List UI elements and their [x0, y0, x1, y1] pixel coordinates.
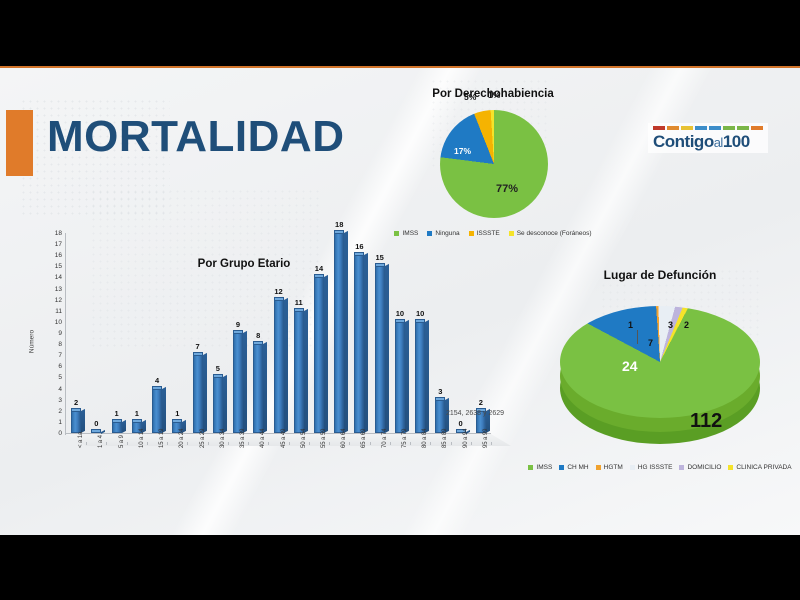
- bar-chart-y-axis-label: Número: [29, 312, 36, 372]
- pie2-top-face: [560, 306, 760, 418]
- bar-x-label: 90 a 94: [463, 429, 469, 448]
- logo-dash-6: [737, 126, 749, 130]
- bar-value-label: 18: [327, 220, 351, 229]
- bar-x-tick: [329, 442, 330, 445]
- title-accent-block: [6, 110, 33, 176]
- pie1-legend-item-se-desconoce-for-neos-[interactable]: Se desconoce (Foráneos): [509, 230, 592, 237]
- pie2-legend-item-domicilio[interactable]: DOMICILIO: [679, 464, 721, 471]
- bar-x-tick: [491, 442, 492, 445]
- logo-dash-7: [751, 126, 763, 130]
- bar-value-label: 11: [287, 298, 311, 307]
- bar-x-tick: [390, 442, 391, 445]
- logo-word-100: 100: [723, 132, 750, 151]
- pie2-value-label-domicilio: 3: [668, 320, 673, 330]
- pie-chart-lugar-defuncion: Lugar de Defunción 112241732 IMSSCH MHHG…: [520, 268, 800, 518]
- bar-y-tick-13: 13: [42, 287, 62, 293]
- bar-top-face: [435, 397, 445, 400]
- pie2-legend-item-hgtm[interactable]: HGTM: [596, 464, 623, 471]
- bar-top-face: [132, 419, 142, 422]
- legend-label: Ninguna: [435, 230, 459, 237]
- bar-y-tick-4: 4: [42, 387, 62, 393]
- bar-value-label: 0: [449, 419, 473, 428]
- bar-x-tick: [451, 442, 452, 445]
- bar-x-tick: [289, 442, 290, 445]
- pie2-value-label-clinica-privada: 2: [684, 320, 689, 330]
- bar-top-face: [274, 297, 284, 300]
- bar-chart-plot-area: 20114175981211141816151010302: [66, 234, 491, 434]
- legend-label: CLINICA PRIVADA: [736, 464, 791, 471]
- bar-y-tick-2: 2: [42, 409, 62, 415]
- bar-y-tick-1: 1: [42, 420, 62, 426]
- bar-x-label: 25 a 29: [200, 429, 206, 448]
- bar-top-face: [71, 408, 81, 411]
- pie1-legend-item-issste[interactable]: ISSSTE: [469, 230, 500, 237]
- bar-body: [253, 344, 263, 433]
- pie-chart-derechohabiencia: Por Derechohabiencia 77%17%5%1% IMSSNing…: [368, 88, 618, 258]
- pie2-legend: IMSSCH MHHGTMHG ISSSTEDOMICILIOCLINICA P…: [510, 464, 800, 471]
- pie2-disc-3d: [560, 300, 760, 440]
- bar-top-face: [152, 386, 162, 389]
- slide-canvas: MORTALIDAD Contigoal100 Por Grupo Etario…: [0, 68, 800, 535]
- bar-x-label: 20 a 24: [179, 429, 185, 448]
- bar-value-label: 8: [246, 331, 270, 340]
- bar-y-tick-9: 9: [42, 331, 62, 337]
- bar-body: [354, 255, 364, 433]
- pie2-leader-line: [637, 330, 638, 344]
- bar-body: [334, 233, 344, 433]
- bar-x-label: 35 a 39: [240, 429, 246, 448]
- bar-side-face: [324, 275, 328, 433]
- bar-side-face: [284, 298, 288, 433]
- bar-side-face: [405, 320, 409, 433]
- bar-y-tick-8: 8: [42, 342, 62, 348]
- pie2-legend-item-ch-mh[interactable]: CH MH: [559, 464, 588, 471]
- bar-top-face: [253, 341, 263, 344]
- legend-swatch-icon: [528, 465, 533, 470]
- bar-x-label: 10 a 14: [139, 429, 145, 448]
- bar-body: [274, 300, 284, 433]
- bar-y-tick-11: 11: [42, 309, 62, 315]
- bar-x-label: 40 a 44: [260, 429, 266, 448]
- bar-value-label: 1: [165, 409, 189, 418]
- bar-value-label: 14: [307, 264, 331, 273]
- bar-chart-grupo-etario: Por Grupo Etario Número 1817161514131211…: [14, 220, 554, 520]
- pie1-value-label-ninguna: 17%: [454, 146, 471, 156]
- bar-x-tick: [471, 442, 472, 445]
- pie1-legend: IMSSNingunaISSSTESe desconoce (Foráneos): [368, 230, 618, 237]
- bar-body: [193, 355, 203, 433]
- bar-top-face: [193, 352, 203, 355]
- logo-dash-2: [681, 126, 693, 130]
- bar-x-label: 95 a 99: [483, 429, 489, 448]
- legend-swatch-icon: [559, 465, 564, 470]
- bar-value-label: 0: [84, 419, 108, 428]
- bar-top-face: [395, 319, 405, 322]
- bar-value-label: 1: [125, 409, 149, 418]
- bar-y-tick-17: 17: [42, 242, 62, 248]
- bar-y-tick-16: 16: [42, 253, 62, 259]
- pie1-disc: [440, 110, 548, 218]
- logo-dash-1: [667, 126, 679, 130]
- bar-side-face: [385, 264, 389, 433]
- contigo-al-100-logo: Contigoal100: [648, 123, 768, 153]
- bar-y-tick-10: 10: [42, 320, 62, 326]
- bar-side-face: [364, 253, 368, 433]
- bar-x-tick: [248, 442, 249, 445]
- legend-swatch-icon: [630, 465, 635, 470]
- bar-x-tick: [309, 442, 310, 445]
- bar-top-face: [112, 419, 122, 422]
- pie1-value-label-imss: 77%: [496, 183, 518, 195]
- bar-x-label: 50 a 54: [301, 429, 307, 448]
- bar-top-face: [294, 308, 304, 311]
- legend-label: HGTM: [604, 464, 623, 471]
- legend-swatch-icon: [509, 231, 514, 236]
- bar-x-tick: [430, 442, 431, 445]
- bar-body: [314, 277, 324, 433]
- bar-body: [112, 422, 122, 433]
- logo-dash-0: [653, 126, 665, 130]
- bar-top-face: [213, 374, 223, 377]
- legend-swatch-icon: [427, 231, 432, 236]
- bar-x-tick: [349, 442, 350, 445]
- bar-x-label: 70 a 74: [382, 429, 388, 448]
- legend-label: IMSS: [402, 230, 418, 237]
- bar-x-label: 45 a 49: [281, 429, 287, 448]
- bar-top-face: [415, 319, 425, 322]
- logo-dash-row: [653, 126, 763, 130]
- bar-top-face: [375, 263, 385, 266]
- pie2-title: Lugar de Defunción: [550, 268, 770, 282]
- bar-x-tick: [86, 442, 87, 445]
- bar-top-face: [334, 230, 344, 233]
- bar-x-tick: [228, 442, 229, 445]
- logo-wordmark: Contigoal100: [651, 132, 765, 152]
- bar-value-label: 10: [408, 309, 432, 318]
- bar-side-face: [304, 309, 308, 433]
- logo-word-al: al: [714, 135, 723, 150]
- slide-frame: MORTALIDAD Contigoal100 Por Grupo Etario…: [0, 0, 800, 600]
- bar-chart-x-axis-labels: < a 1a.1 a 45 a 910 a 1415 a 1920 a 2425…: [66, 442, 511, 482]
- bar-y-tick-12: 12: [42, 298, 62, 304]
- bar-x-label: 85 a 89: [442, 429, 448, 448]
- bar-x-tick: [187, 442, 188, 445]
- page-title: MORTALIDAD: [47, 112, 344, 162]
- bar-x-label: 65 a 69: [361, 429, 367, 448]
- legend-label: DOMICILIO: [687, 464, 721, 471]
- bar-y-tick-7: 7: [42, 353, 62, 359]
- legend-label: HG ISSSTE: [638, 464, 673, 471]
- legend-swatch-icon: [469, 231, 474, 236]
- pie2-legend-item-clinica-privada[interactable]: CLINICA PRIVADA: [728, 464, 791, 471]
- legend-label: IMSS: [536, 464, 552, 471]
- bar-value-label: 2: [64, 398, 88, 407]
- bar-body: [213, 377, 223, 433]
- bar-x-label: 1 a 4: [98, 435, 104, 448]
- bar-value-label: 12: [267, 287, 291, 296]
- bar-x-label: 5 a 9: [119, 435, 125, 448]
- legend-label: ISSSTE: [477, 230, 500, 237]
- bar-x-label: 80 a 84: [422, 429, 428, 448]
- bar-chart-annotation: 2154, 2638 y 2629: [446, 410, 504, 417]
- bar-side-face: [425, 320, 429, 433]
- bar-x-tick: [370, 442, 371, 445]
- bar-y-tick-5: 5: [42, 375, 62, 381]
- bar-x-label: < a 1a.: [78, 430, 84, 448]
- bar-side-face: [243, 331, 247, 433]
- pie1-legend-item-imss[interactable]: IMSS: [394, 230, 418, 237]
- pie1-value-label-se-desconoce-for-neos-: 1%: [488, 90, 500, 100]
- bar-top-face: [233, 330, 243, 333]
- bar-x-tick: [147, 442, 148, 445]
- bar-x-label: 60 a 64: [341, 429, 347, 448]
- bar-side-face: [344, 231, 348, 433]
- bar-body: [415, 322, 425, 433]
- bar-side-face: [101, 429, 105, 433]
- pie2-legend-item-imss[interactable]: IMSS: [528, 464, 552, 471]
- pie2-legend-item-hg-issste[interactable]: HG ISSSTE: [630, 464, 673, 471]
- bar-x-tick: [208, 442, 209, 445]
- legend-swatch-icon: [728, 465, 733, 470]
- bar-x-label: 75 a 79: [402, 429, 408, 448]
- pie2-value-label-hg-issste: 7: [648, 338, 653, 348]
- bar-body: [395, 322, 405, 433]
- bar-value-label: 3: [428, 387, 452, 396]
- legend-swatch-icon: [394, 231, 399, 236]
- bar-y-tick-15: 15: [42, 264, 62, 270]
- bar-y-tick-0: 0: [42, 431, 62, 437]
- bar-x-label: 55 a 59: [321, 429, 327, 448]
- legend-swatch-icon: [596, 465, 601, 470]
- pie2-value-label-imss: 112: [690, 410, 722, 433]
- logo-dash-3: [695, 126, 707, 130]
- bar-body: [233, 333, 243, 433]
- bar-x-tick: [167, 442, 168, 445]
- legend-label: Se desconoce (Foráneos): [517, 230, 592, 237]
- bar-top-face: [91, 429, 101, 432]
- legend-swatch-icon: [679, 465, 684, 470]
- bar-value-label: 2: [469, 398, 493, 407]
- bar-x-label: 15 a 19: [159, 429, 165, 448]
- bar-x-tick: [127, 442, 128, 445]
- legend-label: CH MH: [567, 464, 588, 471]
- pie2-value-label-ch-mh: 24: [622, 358, 638, 374]
- bar-top-face: [314, 274, 324, 277]
- bar-top-face: [354, 252, 364, 255]
- logo-word-contigo: Contigo: [653, 132, 714, 151]
- bar-x-tick: [268, 442, 269, 445]
- pie1-legend-item-ninguna[interactable]: Ninguna: [427, 230, 459, 237]
- logo-dash-5: [723, 126, 735, 130]
- bar-body: [375, 266, 385, 433]
- bar-side-face: [122, 420, 126, 433]
- bar-x-label: 30 a 34: [220, 429, 226, 448]
- bar-chart-y-axis-ticks: 1817161514131211109876543210: [42, 234, 64, 434]
- bar-body: [294, 311, 304, 433]
- bar-y-tick-14: 14: [42, 275, 62, 281]
- bar-body: [152, 389, 162, 433]
- bar-side-face: [223, 375, 227, 433]
- pie1-value-label-issste: 5%: [464, 92, 476, 102]
- logo-dash-4: [709, 126, 721, 130]
- bar-y-tick-6: 6: [42, 364, 62, 370]
- bar-x-tick: [106, 442, 107, 445]
- bar-value-label: 7: [186, 342, 210, 351]
- bar-top-face: [172, 419, 182, 422]
- pie2-value-label-hgtm: 1: [628, 320, 633, 330]
- bar-value-label: 5: [206, 364, 230, 373]
- bar-value-label: 4: [145, 376, 169, 385]
- bar-x-tick: [410, 442, 411, 445]
- letterbox-bottom: [0, 535, 800, 600]
- bar-side-face: [263, 342, 267, 433]
- bar-y-tick-3: 3: [42, 398, 62, 404]
- bar-y-tick-18: 18: [42, 231, 62, 237]
- bar-value-label: 9: [226, 320, 250, 329]
